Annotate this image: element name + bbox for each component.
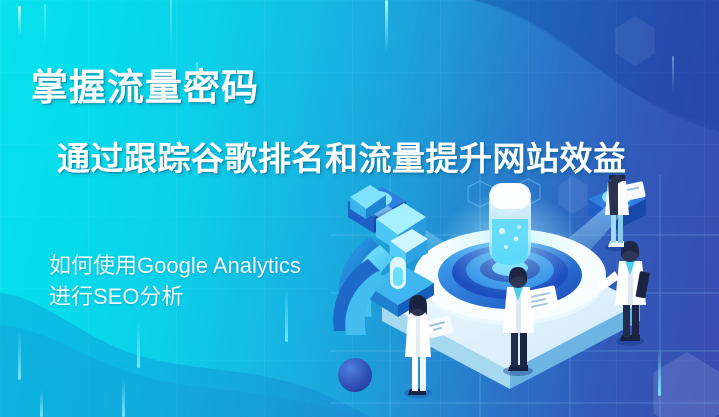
light-streak-9 (122, 378, 125, 417)
light-streak-6 (285, 288, 288, 342)
wave-shape-top-right (419, 0, 719, 140)
test-tube (489, 183, 531, 267)
light-streak-5 (672, 56, 674, 92)
light-streak-2 (170, 0, 172, 56)
light-streak-4 (385, 0, 388, 52)
promo-banner: 掌握流量密码 通过跟踪谷歌排名和流量提升网站效益 如何使用Google Anal… (0, 0, 719, 417)
light-streak-7 (18, 330, 21, 380)
light-streak-8 (40, 390, 43, 417)
light-streak-12 (18, 6, 21, 36)
light-streak-10 (137, 318, 140, 368)
light-streak-1 (44, 4, 46, 46)
light-streak-3 (196, 62, 198, 100)
illustration-isometric-science-lab (330, 175, 719, 417)
